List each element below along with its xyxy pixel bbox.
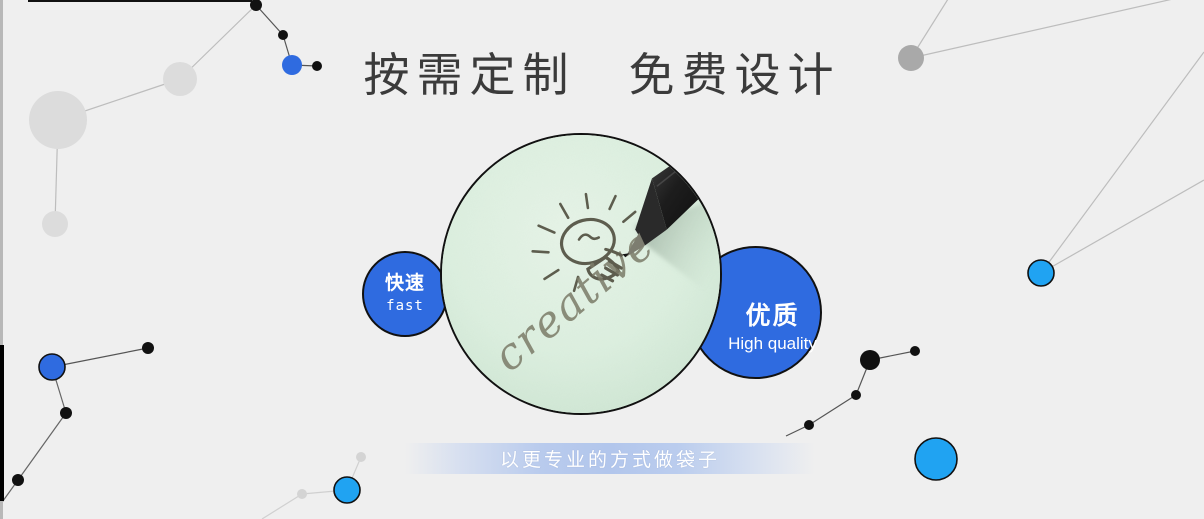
creative-photo-illustration: creative [442, 135, 720, 413]
badge-quality-cn: 优质 [745, 300, 799, 332]
line-br-3 [809, 395, 856, 425]
page-title: 按需定制 免费设计 [0, 46, 1204, 104]
badge-quality-en: High quality [728, 332, 817, 356]
badge-fast-en: fast [386, 296, 424, 316]
dark-node-left-b [60, 407, 72, 419]
grey-node-bottom-b [356, 452, 366, 462]
grey-node-bottom-a [297, 489, 307, 499]
badge-fast[interactable]: 快速 fast [362, 251, 448, 337]
dark-node-left-c [12, 474, 24, 486]
dark-node-bottom-a [910, 346, 920, 356]
promo-banner: 按需定制 免费设计 [0, 0, 1204, 519]
cyan-node-right [1028, 260, 1054, 286]
top-edge-rule [28, 0, 252, 2]
tagline-text: 以更专业的方式做袋子 [500, 445, 720, 472]
tagline-ribbon: 以更专业的方式做袋子 [405, 443, 815, 474]
line-bl-7 [262, 494, 302, 519]
grey-node-small-left [42, 211, 68, 237]
dark-node-bottom-b [851, 390, 861, 400]
dark-node-bottom-big [860, 350, 880, 370]
line-bl-3 [18, 413, 66, 480]
line-bl-1 [52, 348, 148, 367]
dark-node-left-a [142, 342, 154, 354]
left-edge-black-bar [0, 345, 4, 501]
creative-photo-circle: creative [440, 133, 722, 415]
dark-node-top-2 [278, 30, 288, 40]
badge-fast-cn: 快速 [385, 272, 425, 296]
blue-node-left-low [39, 354, 65, 380]
dark-node-bottom-c [804, 420, 814, 430]
cyan-node-bottom-right [915, 438, 957, 480]
cyan-node-bottom-left [334, 477, 360, 503]
line-tr-4 [1041, 180, 1204, 273]
line-left-4 [256, 5, 283, 35]
